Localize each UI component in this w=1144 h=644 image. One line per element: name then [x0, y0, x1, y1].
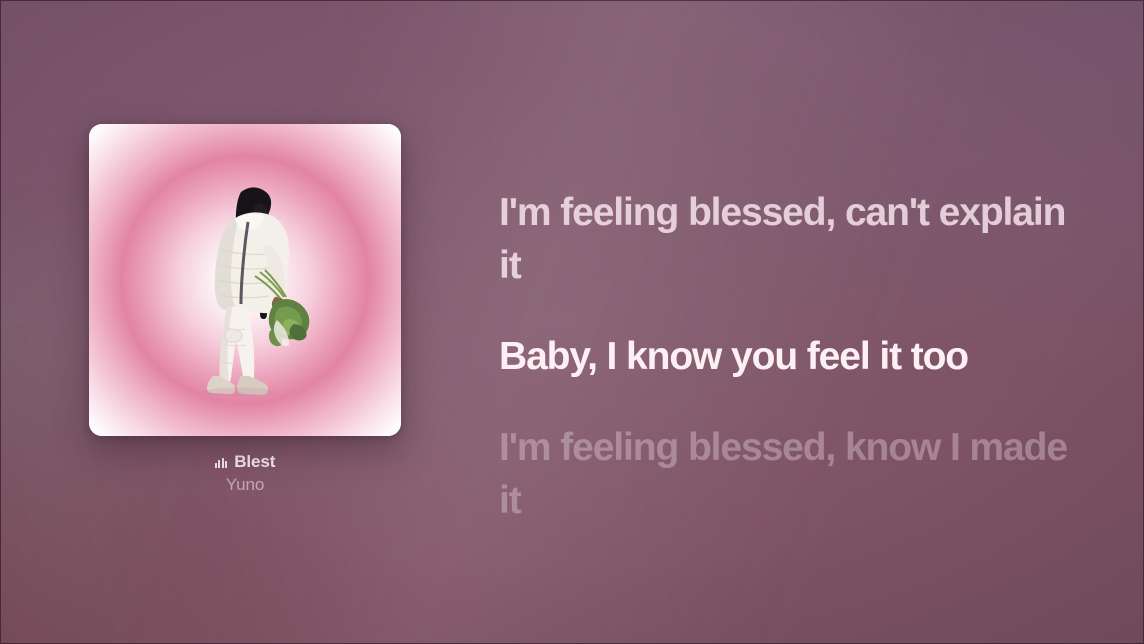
now-playing-panel: Blest Yuno: [89, 124, 401, 495]
track-title-row: Blest: [89, 452, 401, 472]
track-artist: Yuno: [89, 475, 401, 495]
track-metadata: Blest Yuno: [89, 452, 401, 495]
lyric-line-active[interactable]: Baby, I know you feel it too: [499, 330, 1077, 383]
lyric-line-past[interactable]: I'm feeling blessed, can't explain it: [499, 186, 1077, 292]
equalizer-icon: [215, 457, 228, 468]
album-artwork[interactable]: [89, 124, 401, 436]
album-artwork-figure: [89, 124, 401, 436]
lyrics-panel[interactable]: I'm feeling blessed, can't explain it Ba…: [499, 186, 1077, 527]
track-title: Blest: [234, 452, 275, 472]
lyric-line-upcoming[interactable]: I'm feeling blessed, know I made it: [499, 421, 1077, 527]
